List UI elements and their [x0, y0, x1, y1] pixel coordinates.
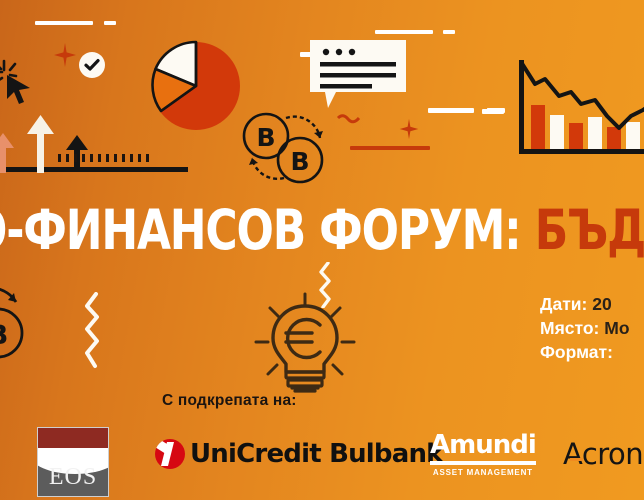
bitcoin-refresh-icon: B: [0, 288, 46, 364]
decor-dash: [104, 21, 116, 25]
logo-eos: EOS: [37, 427, 109, 497]
place-value: Мо: [604, 318, 629, 338]
decor-dash-red: [350, 146, 430, 150]
event-format-line: Формат:: [540, 340, 644, 364]
decor-dash: [35, 21, 93, 25]
headline-white-part: О-ФИНАНСОВ ФОРУМ:: [0, 198, 521, 262]
dates-label: Дати:: [540, 294, 587, 314]
bar-chart-line-icon: [519, 60, 644, 170]
unicredit-logo-text: UniCredit Bulbank: [190, 439, 443, 469]
bitcoin-exchange-icon: B B: [240, 108, 330, 188]
squiggle-icon: [336, 112, 362, 128]
logo-unicredit-bulbank: UniCredit Bulbank: [155, 437, 443, 471]
amundi-tagline: ASSET MANAGEMENT: [430, 468, 536, 477]
event-place-line: Място: Мо: [540, 316, 644, 340]
sponsors-heading: С подкрепата на:: [162, 392, 297, 410]
eos-logo-text: EOS: [38, 464, 108, 491]
check-badge-icon: [79, 52, 105, 78]
pie-chart-icon: [150, 40, 242, 132]
page-title: О-ФИНАНСОВ ФОРУМ: БЪД: [0, 203, 546, 258]
dotted-divider: [58, 154, 149, 162]
zigzag-line-icon: [82, 292, 104, 370]
acronis-a-bar: [570, 458, 583, 461]
unicredit-mark-icon: [155, 439, 185, 469]
logo-acronis: Acron: [563, 437, 643, 471]
decor-dash: [487, 108, 505, 113]
format-label: Формат:: [540, 342, 613, 362]
event-details: Дати: 20 Място: Мо Формат:: [540, 292, 644, 364]
svg-text:B: B: [256, 123, 275, 152]
amundi-logo-text: Amundi: [430, 432, 536, 458]
svg-text:B: B: [0, 320, 8, 351]
amundi-rule: [430, 461, 536, 465]
decor-dash: [443, 30, 455, 34]
logo-amundi: Amundi ASSET MANAGEMENT: [430, 432, 536, 477]
svg-text:B: B: [290, 147, 309, 176]
acronis-logo-text: Acron: [563, 437, 643, 471]
dates-value: 20: [592, 294, 611, 314]
headline-red-part: БЪД: [535, 198, 644, 262]
event-dates-line: Дати: 20: [540, 292, 644, 316]
decor-dash: [375, 30, 433, 34]
event-banner: B B О-: [0, 0, 644, 500]
decor-dash: [428, 108, 474, 113]
place-label: Място:: [540, 318, 599, 338]
lightbulb-euro-icon: [246, 292, 364, 396]
